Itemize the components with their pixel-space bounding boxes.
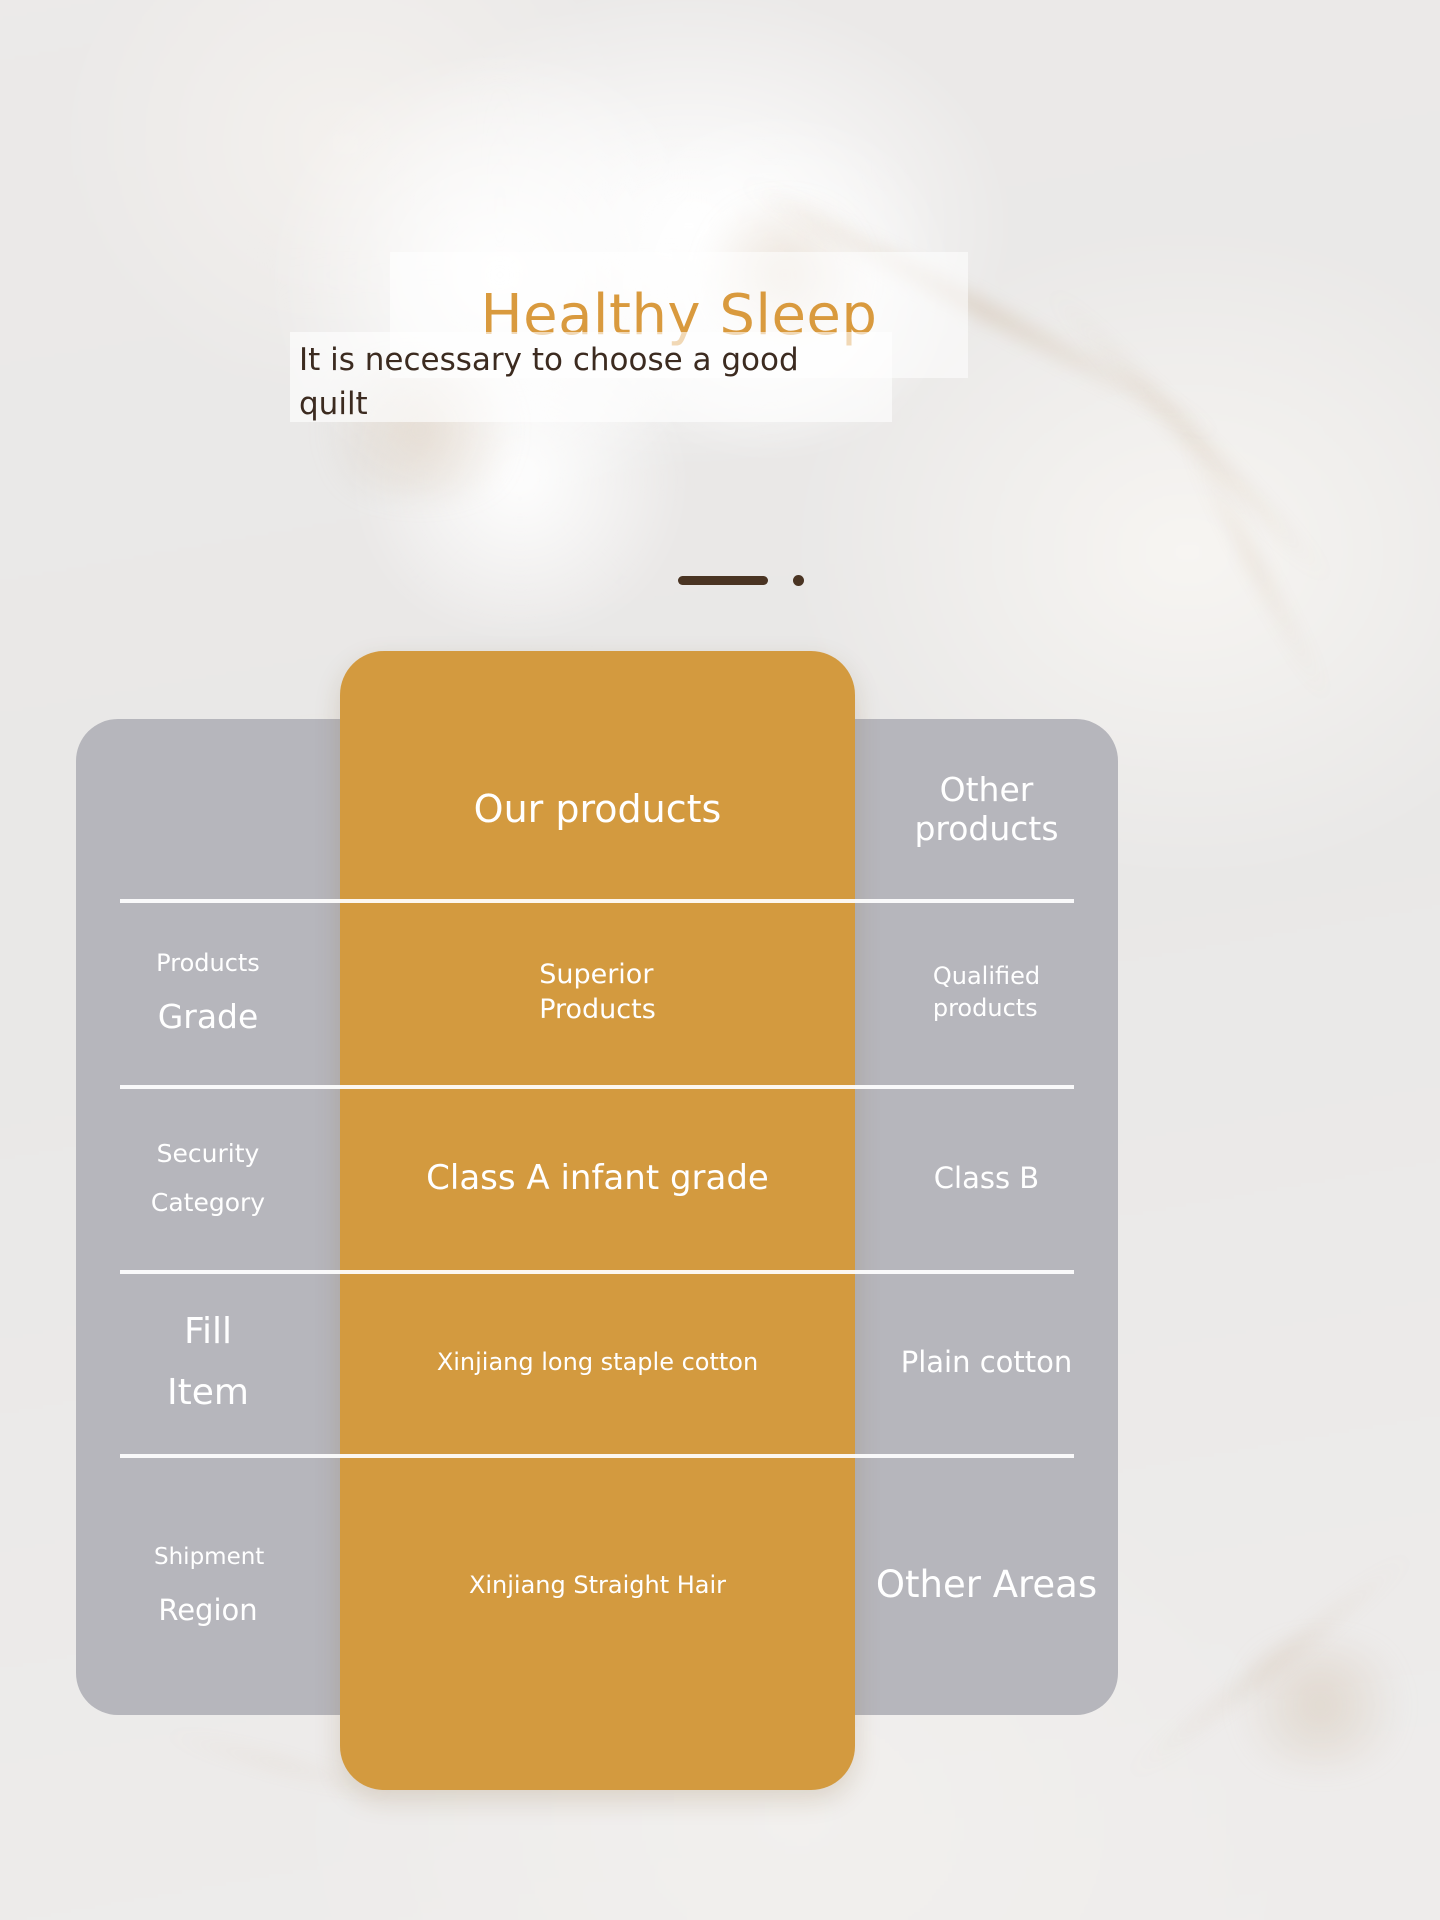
cell-value: Other Areas bbox=[876, 1563, 1097, 1606]
cell-ours-shipment-region: Xinjiang Straight Hair bbox=[340, 1454, 855, 1715]
row-label-line2: Category bbox=[90, 1188, 326, 1217]
cell-value: Xinjiang Straight Hair bbox=[469, 1571, 726, 1599]
header-decoration bbox=[678, 575, 804, 586]
dot-icon bbox=[793, 575, 804, 586]
cell-value: Xinjiang long staple cotton bbox=[437, 1348, 758, 1376]
row-divider bbox=[120, 899, 1074, 903]
row-divider bbox=[120, 1454, 1074, 1458]
header-other-products-text: Other products bbox=[873, 770, 1100, 848]
cell-other-shipment-region: Other Areas bbox=[855, 1454, 1118, 1715]
table-header-row: Our products Other products bbox=[76, 719, 1118, 899]
row-label-line1: Shipment bbox=[154, 1542, 262, 1573]
row-label-line1: Fill bbox=[90, 1311, 326, 1352]
row-label-shipment-region: Shipment Region bbox=[76, 1454, 340, 1715]
header-cell-label bbox=[76, 719, 340, 899]
table-row: Fill Item Xinjiang long staple cotton Pl… bbox=[76, 1270, 1118, 1454]
cell-value: Qualified products bbox=[933, 960, 1040, 1024]
row-label-fill-item: Fill Item bbox=[76, 1270, 340, 1454]
row-label-products-grade: Products Grade bbox=[76, 899, 340, 1085]
cell-other-security-category: Class B bbox=[855, 1085, 1118, 1270]
row-label-line1: Security bbox=[90, 1139, 326, 1168]
row-divider bbox=[120, 1270, 1074, 1274]
row-label-line2: Grade bbox=[90, 997, 326, 1036]
dash-icon bbox=[678, 576, 768, 585]
table-row: Shipment Region Xinjiang Straight Hair O… bbox=[76, 1454, 1118, 1715]
header-cell-other-products: Other products bbox=[855, 719, 1118, 899]
cell-other-products-grade: Qualified products bbox=[855, 899, 1118, 1085]
cell-value: Class A infant grade bbox=[426, 1158, 769, 1198]
row-label-security-category: Security Category bbox=[76, 1085, 340, 1270]
background-blotch bbox=[1220, 1640, 1420, 1770]
header-our-products-text: Our products bbox=[474, 787, 722, 831]
row-label-line2: Region bbox=[90, 1593, 326, 1627]
table-row: Security Category Class A infant grade C… bbox=[76, 1085, 1118, 1270]
cell-ours-fill-item: Xinjiang long staple cotton bbox=[340, 1270, 855, 1454]
cell-value: Plain cotton bbox=[901, 1345, 1073, 1379]
table-row: Products Grade Superior Products Qualifi… bbox=[76, 899, 1118, 1085]
header-cell-our-products: Our products bbox=[340, 719, 855, 899]
cell-ours-products-grade: Superior Products bbox=[340, 899, 855, 1085]
cell-ours-security-category: Class A infant grade bbox=[340, 1085, 855, 1270]
cell-value: Class B bbox=[934, 1161, 1039, 1195]
page-subtitle: It is necessary to choose a good quilt bbox=[299, 338, 859, 426]
row-divider bbox=[120, 1085, 1074, 1089]
cell-value: Superior Products bbox=[539, 957, 656, 1027]
row-label-line2: Item bbox=[90, 1372, 326, 1413]
cell-other-fill-item: Plain cotton bbox=[855, 1270, 1118, 1454]
row-label-line1: Products bbox=[90, 949, 326, 977]
comparison-grid: Our products Other products Products Gra… bbox=[76, 719, 1118, 1715]
